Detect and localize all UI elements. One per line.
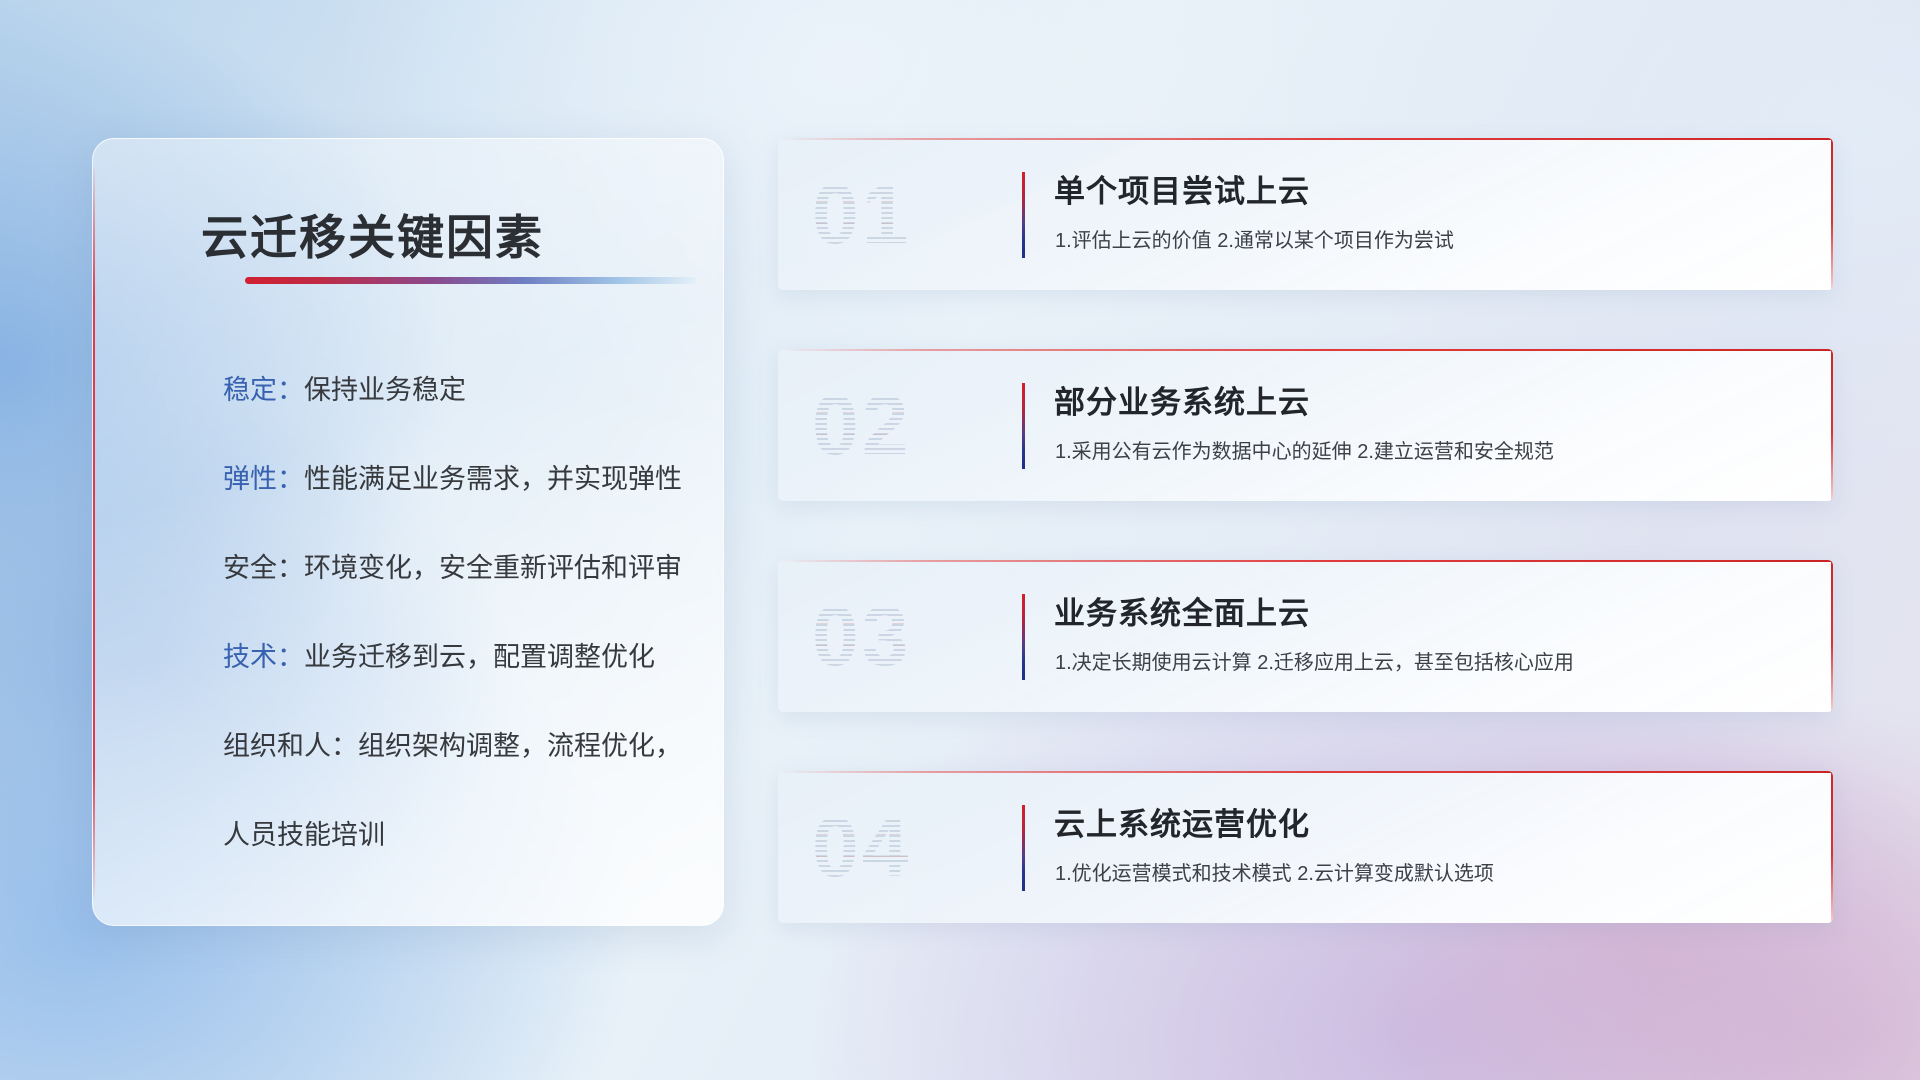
stage-card[interactable]: 02 02 部分业务系统上云 1.采用公有云作为数据中心的延伸 2.建立运营和安… [778,349,1833,501]
list-item-label: 稳定： [223,375,304,405]
card-top-accent [778,771,1833,773]
panel-left-accent-bar [93,167,95,897]
stage-card[interactable]: 03 03 业务系统全面上云 1.决定长期使用云计算 2.迁移应用上云，甚至包括… [778,560,1833,712]
list-item: 安全：环境变化，安全重新评估和评审 [223,555,695,582]
list-item: 人员技能培训 [223,822,695,849]
slide-stage: 云迁移关键因素 稳定：保持业务稳定 弹性：性能满足业务需求，并实现弹性 安全：环… [0,0,1920,1080]
card-right-accent [1831,349,1833,501]
list-item-text: 保持业务稳定 [304,375,466,405]
list-item-text: 人员技能培训 [223,820,385,850]
list-item-text: 业务迁移到云，配置调整优化 [304,642,655,672]
list-item-text: 性能满足业务需求，并实现弹性 [304,464,682,494]
card-divider-bar [1022,383,1025,469]
key-factors-panel: 云迁移关键因素 稳定：保持业务稳定 弹性：性能满足业务需求，并实现弹性 安全：环… [92,138,724,926]
stage-card[interactable]: 04 04 云上系统运营优化 1.优化运营模式和技术模式 2.云计算变成默认选项 [778,771,1833,923]
stage-card-title: 业务系统全面上云 [1054,588,1310,633]
list-item: 组织和人：组织架构调整，流程优化， [223,733,695,760]
card-right-accent [1831,138,1833,290]
list-item: 弹性：性能满足业务需求，并实现弹性 [223,466,695,493]
stage-card-detail: 1.优化运营模式和技术模式 2.云计算变成默认选项 [1055,857,1494,886]
list-item-label: 组织和人： [223,731,358,761]
stage-card-detail: 1.决定长期使用云计算 2.迁移应用上云，甚至包括核心应用 [1055,646,1574,675]
page-title: 云迁移关键因素 [201,199,544,268]
list-item-label: 技术： [223,642,304,672]
list-item-label: 弹性： [223,464,304,494]
stage-number-ghost-tint: 03 [812,594,911,678]
stage-card-title: 部分业务系统上云 [1054,377,1310,422]
card-right-accent [1831,771,1833,923]
card-divider-bar [1022,594,1025,680]
card-divider-bar [1022,172,1025,258]
list-item-text: 环境变化，安全重新评估和评审 [304,553,682,583]
stage-number-ghost-tint: 04 [812,805,911,889]
card-right-accent [1831,560,1833,712]
migration-stage-cards: 01 01 单个项目尝试上云 1.评估上云的价值 2.通常以某个项目作为尝试 0… [778,138,1833,923]
title-underline-gradient [245,277,697,284]
stage-card-title: 单个项目尝试上云 [1054,166,1310,211]
stage-card-detail: 1.评估上云的价值 2.通常以某个项目作为尝试 [1055,224,1454,253]
card-top-accent [778,560,1833,562]
key-factors-list: 稳定：保持业务稳定 弹性：性能满足业务需求，并实现弹性 安全：环境变化，安全重新… [223,377,695,849]
card-top-accent [778,349,1833,351]
stage-card-title: 云上系统运营优化 [1054,799,1310,844]
list-item-text: 组织架构调整，流程优化， [358,731,682,761]
card-top-accent [778,138,1833,140]
stage-card[interactable]: 01 01 单个项目尝试上云 1.评估上云的价值 2.通常以某个项目作为尝试 [778,138,1833,290]
stage-number-ghost-tint: 01 [812,172,911,256]
list-item-label: 安全： [223,553,304,583]
stage-card-detail: 1.采用公有云作为数据中心的延伸 2.建立运营和安全规范 [1055,435,1554,464]
card-divider-bar [1022,805,1025,891]
list-item: 稳定：保持业务稳定 [223,377,695,404]
stage-number-ghost-tint: 02 [812,383,911,467]
list-item: 技术：业务迁移到云，配置调整优化 [223,644,695,671]
